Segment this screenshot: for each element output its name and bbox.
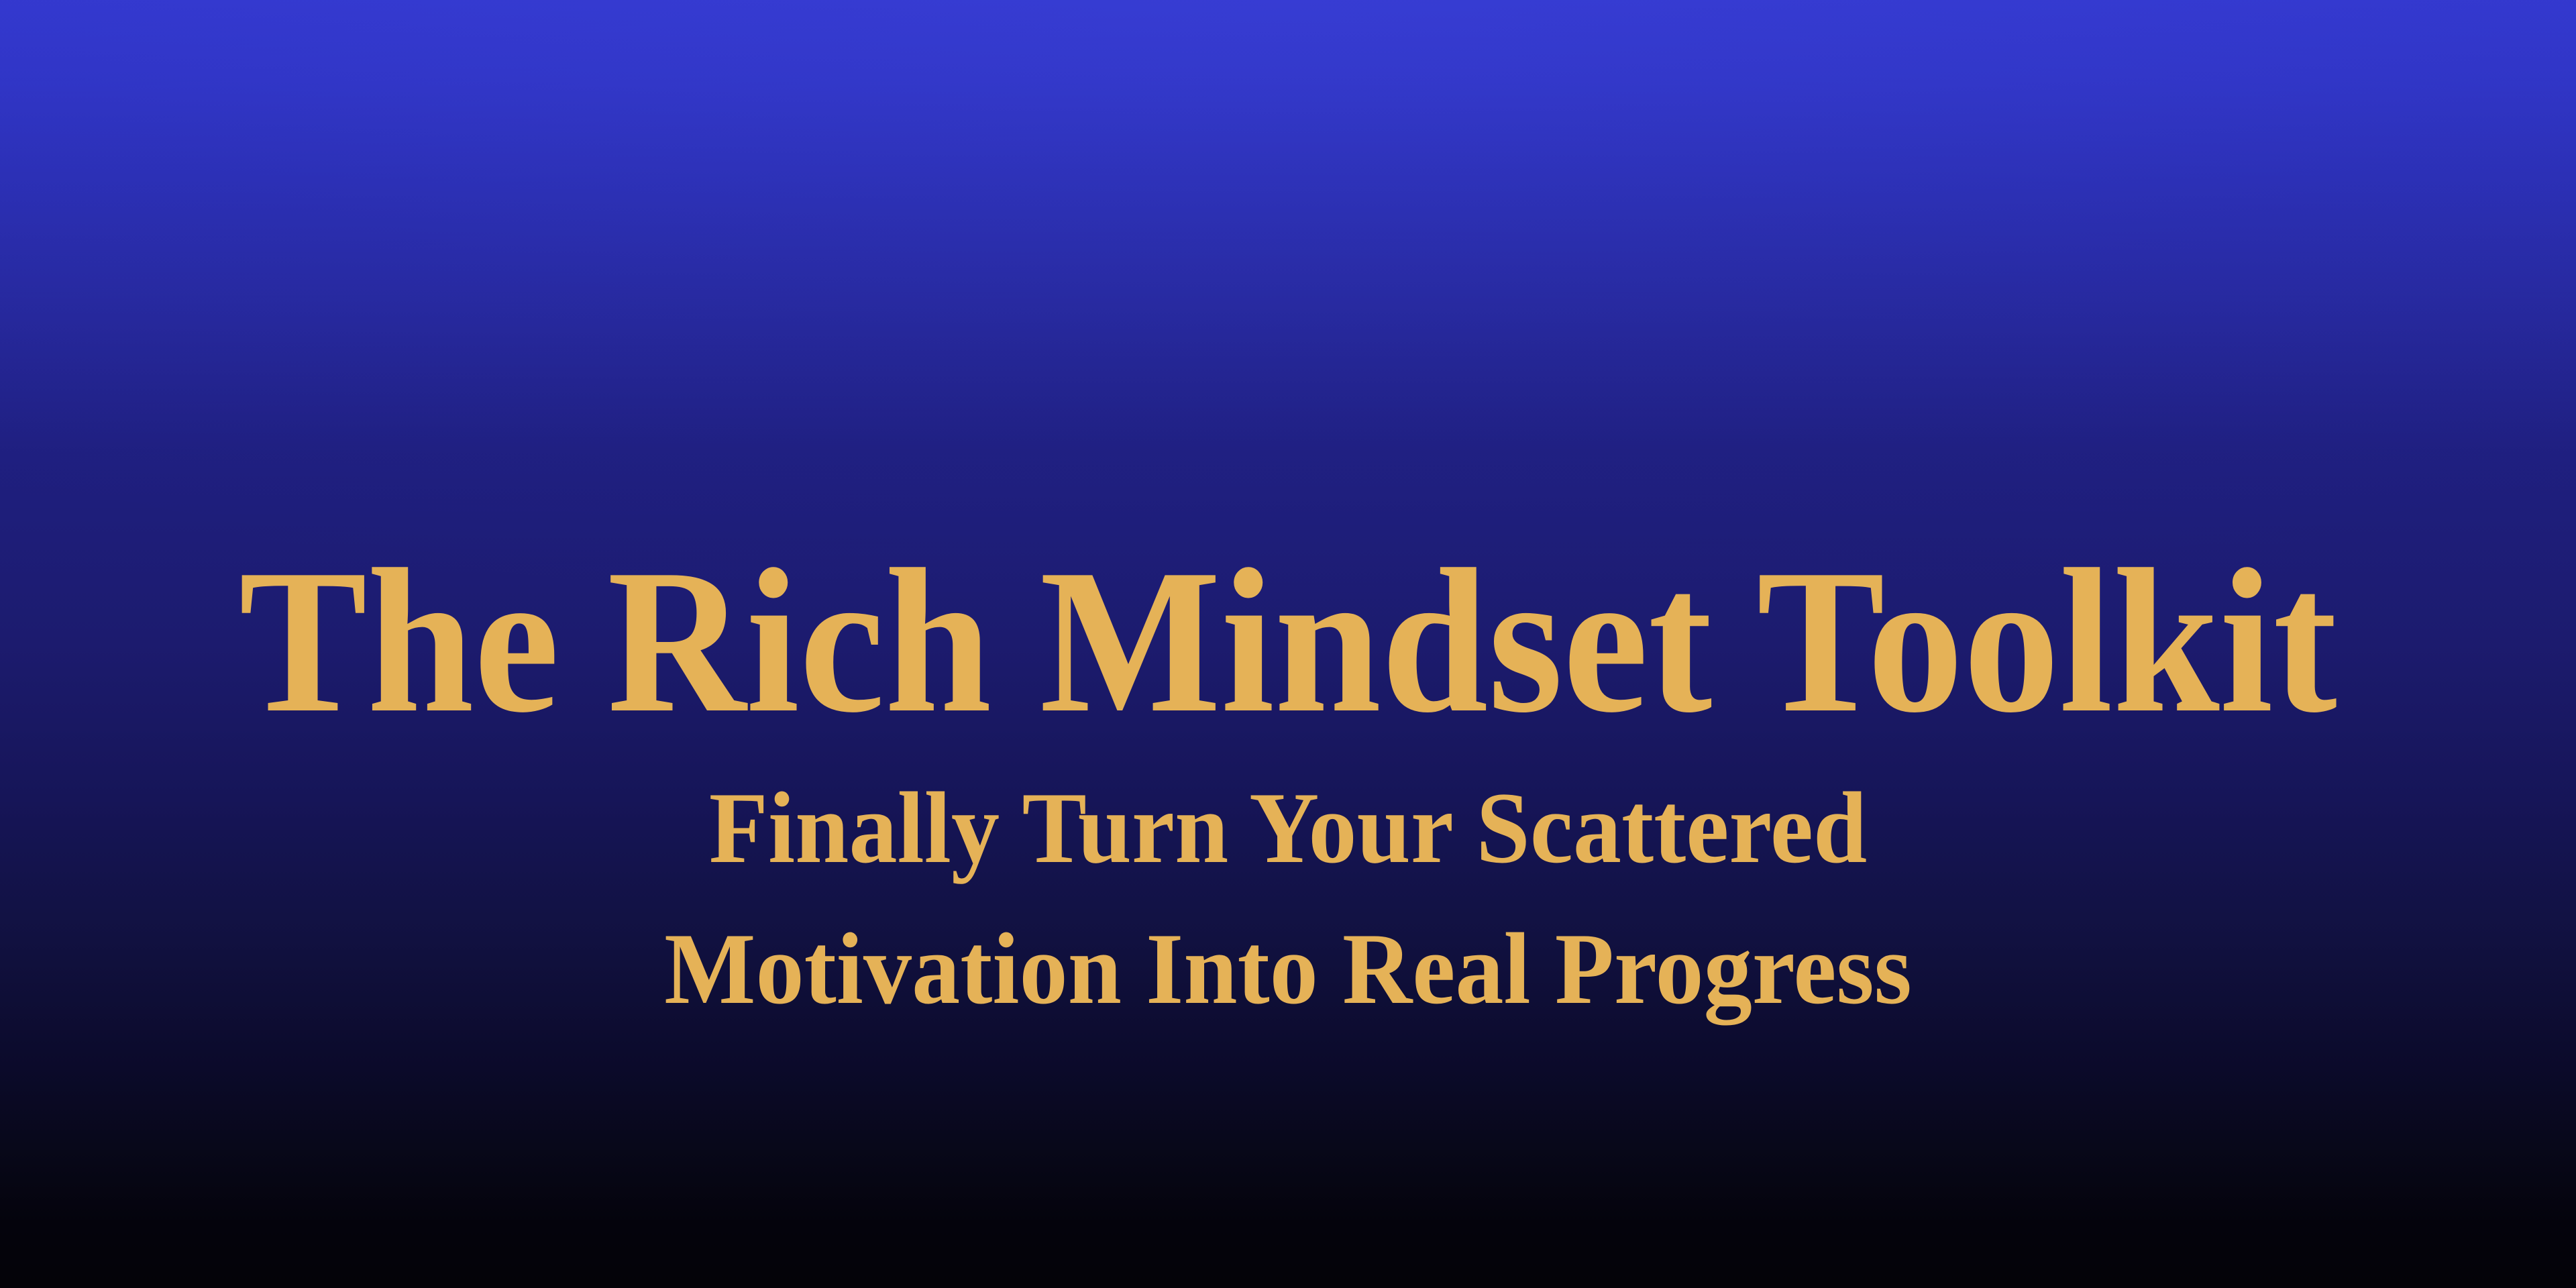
- subtitle-block: Finally Turn Your Scattered Motivation I…: [64, 758, 2512, 1040]
- title-slide: The Rich Mindset Toolkit Finally Turn Yo…: [0, 0, 2576, 1288]
- subtitle-line-1: Finally Turn Your Scattered: [64, 758, 2512, 899]
- page-title: The Rich Mindset Toolkit: [90, 538, 2485, 745]
- subtitle-line-2: Motivation Into Real Progress: [64, 899, 2512, 1040]
- slide-content: The Rich Mindset Toolkit Finally Turn Yo…: [0, 0, 2576, 1288]
